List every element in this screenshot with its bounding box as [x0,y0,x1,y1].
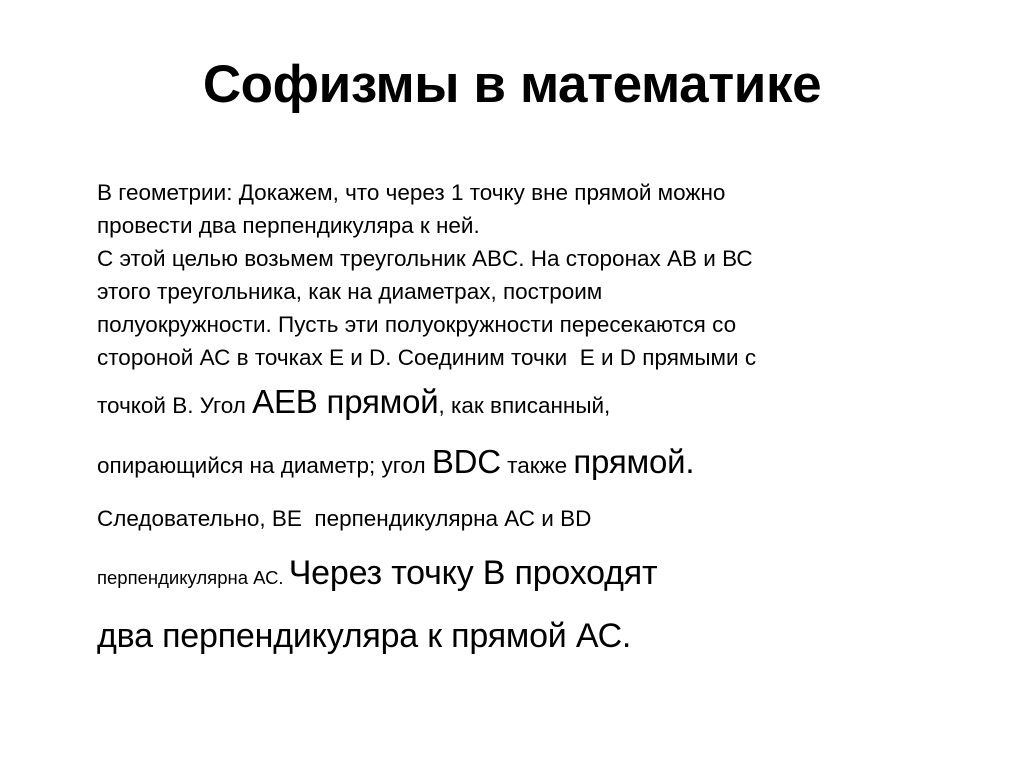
body-line-8-lead: опирающийся на диаметр; угол [97,453,432,478]
slide-body-text: В геометрии: Докажем, что через 1 точку … [97,176,957,669]
slide-canvas: Софизмы в математике В геометрии: Докаже… [0,0,1024,767]
body-line-7: точкой В. Угол АЕВ прямой, как вписанный… [97,374,957,434]
body-line-10-lead: перпендикулярна АС. [97,567,289,588]
body-line-11-emphasis-conclusion: два перпендикуляра к прямой АС. [97,617,631,655]
body-line-9: Следовательно, ВЕ перпендикулярна АС и B… [97,494,957,544]
body-line-3: С этой целью возьмем треугольник ABC. На… [97,242,957,275]
body-line-2: провести два перпендикуляра к ней. [97,209,957,242]
body-line-1: В геометрии: Докажем, что через 1 точку … [97,176,957,209]
body-line-8-mid: также [501,453,573,478]
body-line-10-emphasis-conclusion: Через точку В проходят [289,554,658,592]
body-line-4: этого треугольника, как на диаметрах, по… [97,275,957,308]
page-title: Софизмы в математике [0,56,1024,113]
body-line-6: стороной АС в точках Е и D. Соединим точ… [97,341,957,374]
body-line-7-trail: , как вписанный, [439,393,611,418]
body-line-5: полуокружности. Пусть эти полуокружности… [97,308,957,341]
body-line-8-emphasis-pryamoy: прямой. [573,443,694,480]
body-line-10: перпендикулярна АС. Через точку В проход… [97,544,957,607]
body-line-7-emphasis-angle-aeb: АЕВ прямой [252,383,438,420]
body-line-8-emphasis-angle-bdc: BDC [432,443,501,480]
body-line-11: два перпендикуляра к прямой АС. [97,607,957,669]
body-line-7-lead: точкой В. Угол [97,393,252,418]
body-line-8: опирающийся на диаметр; угол BDC также п… [97,434,957,494]
